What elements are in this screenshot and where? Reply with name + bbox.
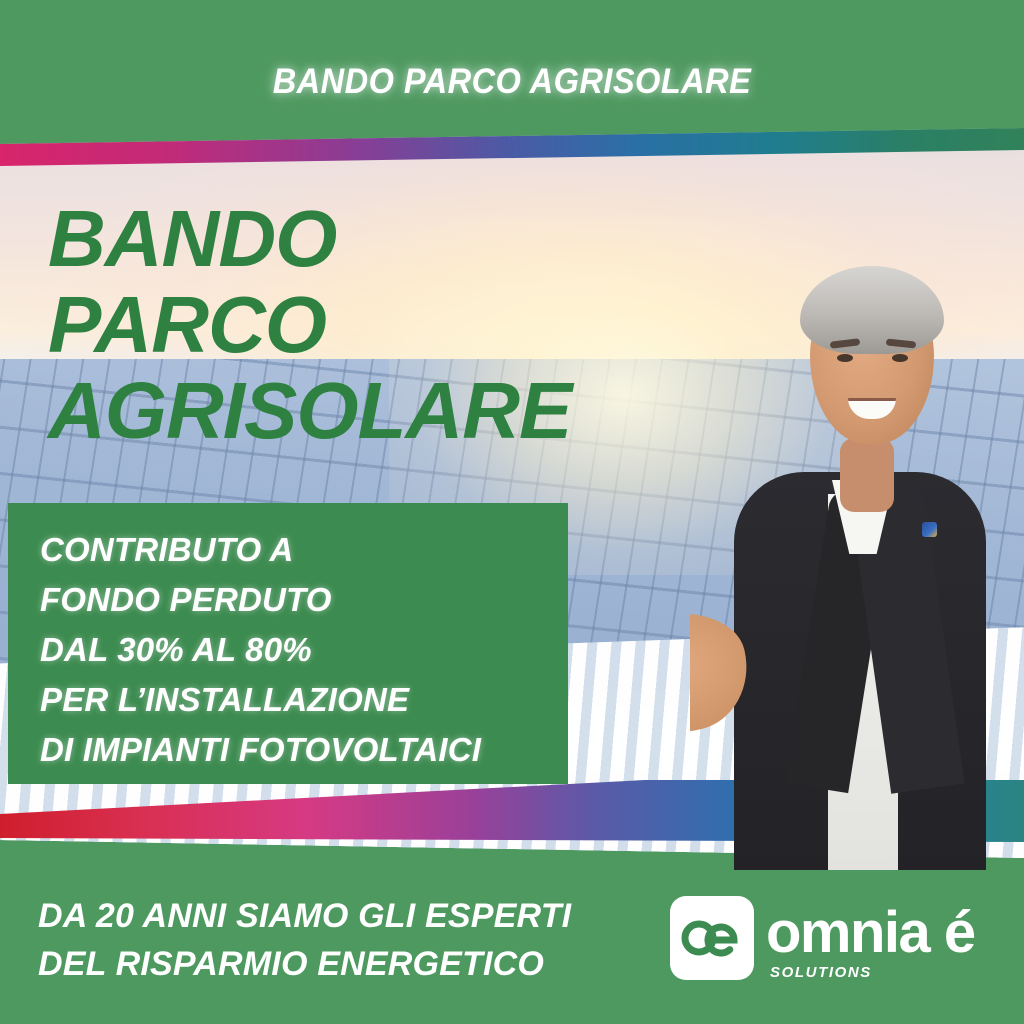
tagline-line-1: DA 20 ANNI SIAMO GLI ESPERTI xyxy=(38,892,571,940)
top-banner-title: BANDO PARCO AGRISOLARE xyxy=(36,62,988,102)
offer-text: CONTRIBUTO A FONDO PERDUTO DAL 30% AL 80… xyxy=(40,525,481,775)
neck xyxy=(840,438,894,512)
hair xyxy=(800,266,944,354)
headline-line-2: PARCO xyxy=(48,282,571,368)
offer-box: CONTRIBUTO A FONDO PERDUTO DAL 30% AL 80… xyxy=(8,503,568,784)
offer-line-4: PER L’INSTALLAZIONE xyxy=(40,675,481,725)
oe-ligature-icon xyxy=(670,896,754,980)
promotional-poster: BANDO PARCO AGRISOLARE BANDO PARCO AGRIS… xyxy=(0,0,1024,1024)
offer-line-5: DI IMPIANTI FOTOVOLTAICI xyxy=(40,725,481,775)
spokesperson-photo xyxy=(690,222,1024,870)
lapel-pin-icon xyxy=(922,522,937,537)
headline-line-1: BANDO xyxy=(48,196,571,282)
page-title: BANDO PARCO AGRISOLARE xyxy=(48,196,571,454)
eye-right xyxy=(892,354,908,362)
logo-subtitle: SOLUTIONS xyxy=(770,964,872,981)
tagline: DA 20 ANNI SIAMO GLI ESPERTI DEL RISPARM… xyxy=(38,892,571,988)
brand-logo[interactable]: omnia é SOLUTIONS xyxy=(670,896,980,988)
tagline-line-2: DEL RISPARMIO ENERGETICO xyxy=(38,940,571,988)
logo-wordmark: omnia é xyxy=(766,902,975,964)
offer-line-3: DAL 30% AL 80% xyxy=(40,625,481,675)
headline-line-3: AGRISOLARE xyxy=(48,368,571,454)
offer-line-2: FONDO PERDUTO xyxy=(40,575,481,625)
eye-left xyxy=(837,354,853,362)
offer-line-1: CONTRIBUTO A xyxy=(40,525,481,575)
